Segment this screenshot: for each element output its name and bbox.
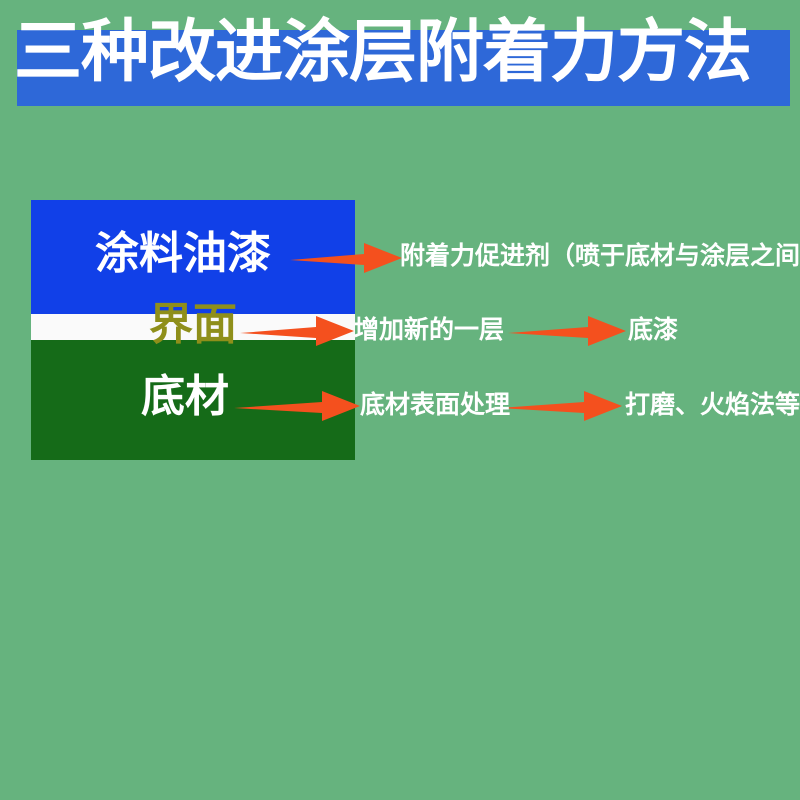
layer-label-interface: 界面 xyxy=(149,303,237,347)
arrow-method-2-primary xyxy=(240,314,354,348)
method-2-primary-label: 增加新的一层 xyxy=(354,316,504,344)
arrow-method-2-secondary xyxy=(508,314,626,348)
arrow-method-3-primary xyxy=(234,389,360,423)
layer-label-coating: 涂料油漆 xyxy=(95,232,271,276)
arrow-method-1 xyxy=(290,241,402,275)
arrow-method-3-secondary xyxy=(500,389,622,423)
method-2-secondary-label: 底漆 xyxy=(628,316,678,344)
page-title: 三种改进涂层附着力方法 xyxy=(14,19,800,87)
layer-label-substrate: 底材 xyxy=(141,375,229,419)
method-1-primary-label: 附着力促进剂（喷于底材与涂层之间） xyxy=(400,242,800,270)
method-3-secondary-label: 打磨、火焰法等 xyxy=(625,391,800,419)
method-3-primary-label: 底材表面处理 xyxy=(360,391,510,419)
